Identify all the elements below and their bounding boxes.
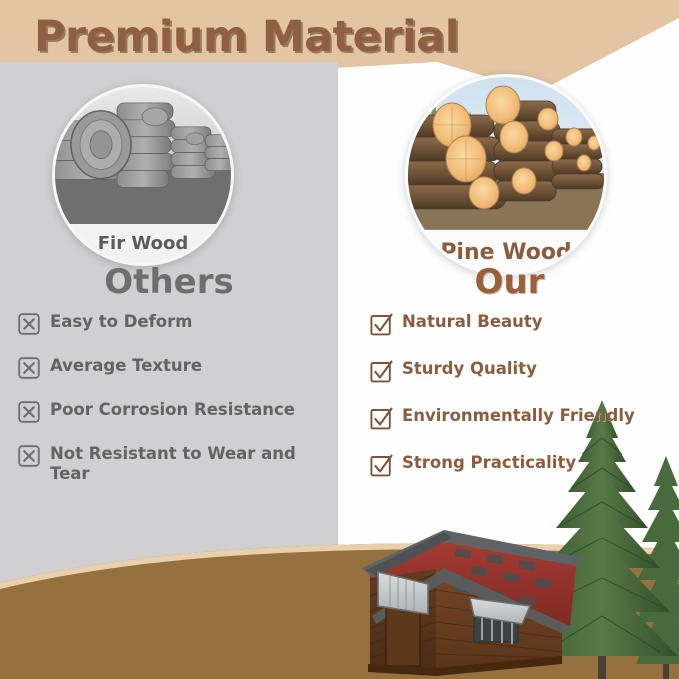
list-item-label: Strong Practicality (402, 453, 576, 473)
list-item: Easy to Deform (18, 312, 336, 335)
list-item-label: Environmentally Friendly (402, 406, 635, 426)
premium-material-infographic: Premium Material (0, 0, 679, 679)
list-item: Not Resistant to Wear and Tear (18, 444, 336, 484)
fir-wood-photo (55, 87, 231, 224)
x-mark-icon (18, 313, 40, 335)
page-title: Premium Material (34, 12, 459, 62)
check-mark-icon (370, 360, 392, 382)
list-item-label: Easy to Deform (50, 312, 192, 332)
others-heading: Others (0, 262, 338, 302)
fir-wood-caption: Fir Wood (55, 233, 231, 254)
list-item: Environmentally Friendly (370, 406, 670, 429)
our-feature-list: Natural Beauty Sturdy Quality Environmen… (370, 312, 670, 500)
x-mark-icon (18, 401, 40, 423)
dog-house-illustration (352, 506, 584, 679)
check-mark-icon (370, 313, 392, 335)
list-item-label: Natural Beauty (402, 312, 543, 332)
list-item: Poor Corrosion Resistance (18, 400, 336, 423)
others-feature-list: Easy to Deform Average Texture Poor Corr… (18, 312, 336, 505)
list-item-label: Not Resistant to Wear and Tear (50, 444, 336, 484)
pine-wood-photo (408, 77, 604, 230)
list-item: Natural Beauty (370, 312, 670, 335)
list-item: Sturdy Quality (370, 359, 670, 382)
list-item-label: Sturdy Quality (402, 359, 537, 379)
fir-wood-badge: Fir Wood (52, 84, 234, 266)
x-mark-icon (18, 445, 40, 467)
check-mark-icon (370, 407, 392, 429)
list-item: Average Texture (18, 356, 336, 379)
check-mark-icon (370, 454, 392, 476)
x-mark-icon (18, 357, 40, 379)
list-item-label: Poor Corrosion Resistance (50, 400, 295, 420)
list-item-label: Average Texture (50, 356, 202, 376)
pine-wood-badge: Pine Wood (405, 74, 607, 276)
our-heading: Our (340, 262, 679, 302)
list-item: Strong Practicality (370, 453, 670, 476)
